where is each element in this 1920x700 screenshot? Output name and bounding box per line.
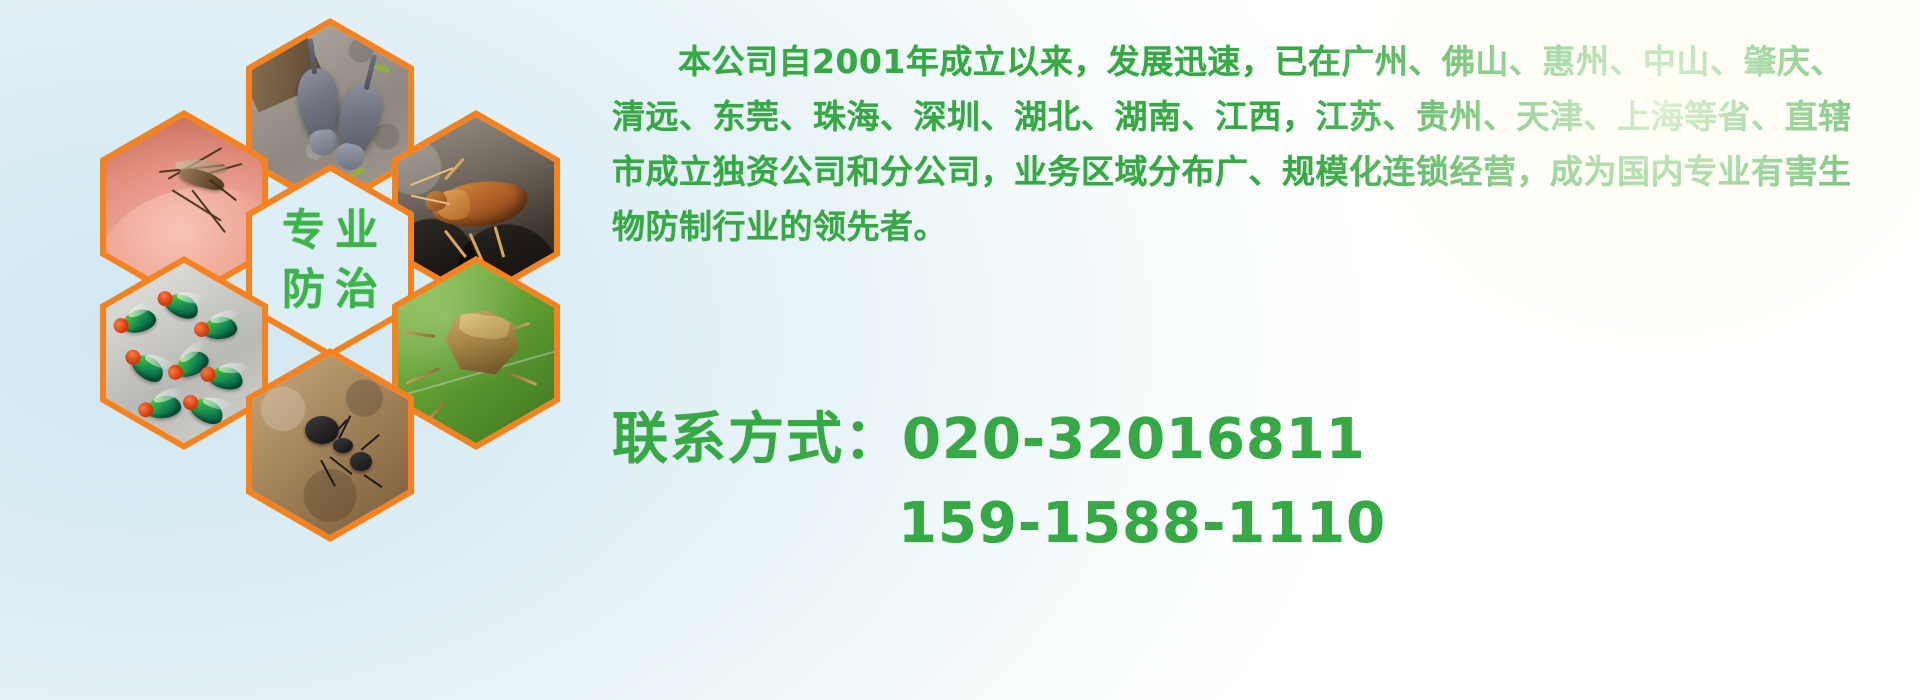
stink-bug-photo (398, 263, 554, 443)
slogan-line-2: 防治 (272, 269, 388, 312)
honeycomb-photo-cluster: 专业 防治 (78, 8, 588, 553)
hex-stink-bug-photo (392, 256, 560, 450)
contact-mobile-line: 159-1588-1110 (612, 482, 1892, 566)
phone-mobile[interactable]: 159-1588-1110 (898, 491, 1386, 556)
company-intro-paragraph: 本公司自2001年成立以来，发展迅速，已在广州、佛山、惠州、中山、肇庆、清远、东… (612, 34, 1872, 254)
contact-block: 联系方式：020-32016811 159-1588-1110 (612, 398, 1892, 566)
hex-ant-photo (246, 348, 414, 542)
hex-slogan-badge: 专业 防治 (246, 164, 414, 358)
phone-landline[interactable]: 020-32016811 (902, 407, 1366, 472)
promo-banner: 专业 防治 (0, 0, 1920, 700)
slogan-line-1: 专业 (272, 210, 388, 253)
hex-flies-photo (100, 256, 268, 450)
contact-label: 联系方式： (612, 407, 902, 472)
flies-photo (106, 263, 262, 443)
company-intro-block: 本公司自2001年成立以来，发展迅速，已在广州、佛山、惠州、中山、肇庆、清远、东… (612, 34, 1872, 254)
contact-landline-line: 联系方式：020-32016811 (612, 398, 1892, 482)
ant-photo (252, 355, 408, 535)
